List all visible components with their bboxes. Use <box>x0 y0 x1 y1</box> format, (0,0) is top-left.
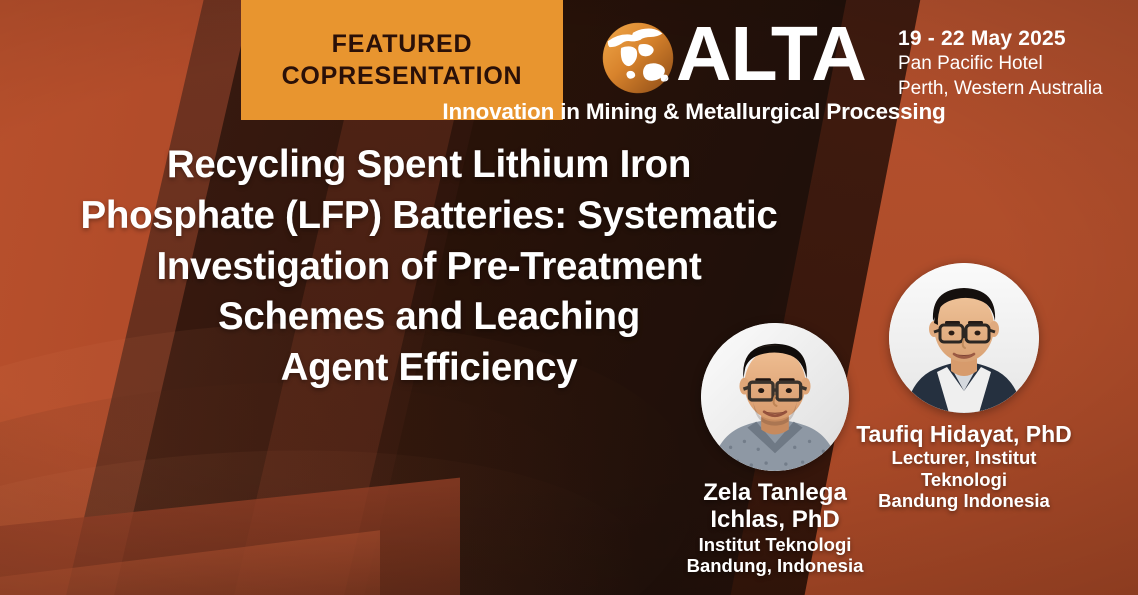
event-venue-line-1: Pan Pacific Hotel <box>898 52 1103 76</box>
speaker-affil-zela-2: Bandung, Indonesia <box>648 555 902 576</box>
title-line-1: Recycling Spent Lithium Iron <box>24 140 834 191</box>
speaker-photo-taufiq <box>889 263 1039 413</box>
avatar-illustration <box>701 323 849 471</box>
event-details: 19 - 22 May 2025 Pan Pacific Hotel Perth… <box>898 26 1103 101</box>
featured-badge-line-1: FEATURED <box>332 30 473 58</box>
avatar-illustration <box>889 263 1039 413</box>
event-venue-line-2: Perth, Western Australia <box>898 77 1103 101</box>
speaker-photo-zela <box>701 323 849 471</box>
title-line-3: Investigation of Pre-Treatment <box>24 242 834 293</box>
event-dates: 19 - 22 May 2025 <box>898 26 1103 52</box>
alta-wordmark: ALTA <box>676 18 866 92</box>
promo-banner: FEATURED COPRESENTATION <box>0 0 1138 595</box>
conference-tagline: Innovation in Mining & Metallurgical Pro… <box>0 99 1138 125</box>
title-line-2: Phosphate (LFP) Batteries: Systematic <box>24 191 834 242</box>
speaker-affil-zela-1: Institut Teknologi <box>648 534 902 555</box>
featured-badge-line-2: COPRESENTATION <box>282 62 523 90</box>
speaker-name-zela-1: Zela Tanlega <box>648 479 902 506</box>
globe-icon <box>596 16 680 100</box>
alta-logo: ALTA <box>596 14 866 100</box>
speaker-name-zela-2: Ichlas, PhD <box>648 506 902 533</box>
speaker-card-zela: Zela Tanlega Ichlas, PhD Institut Teknol… <box>648 323 902 577</box>
